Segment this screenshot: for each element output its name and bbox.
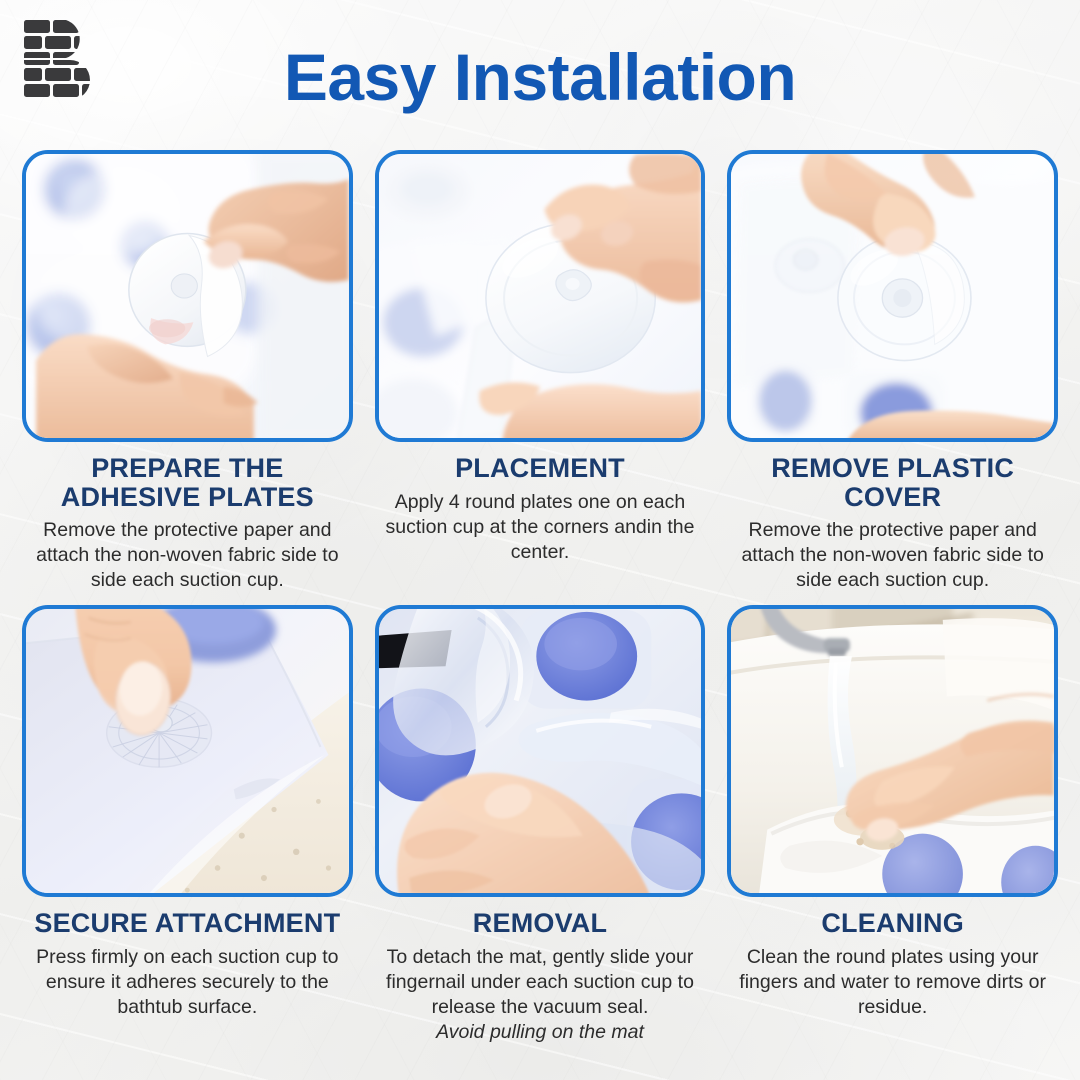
step-body-text: To detach the mat, gently slide your fin…: [386, 946, 694, 1018]
image-remove-plastic-cover-icon: [731, 154, 1054, 438]
step-photo-prepare-the-adhesive-plates: [22, 150, 353, 442]
step-body: Press firmly on each suction cup to ensu…: [22, 945, 353, 1020]
steps-grid: PREPARE THE ADHESIVE PLATES Remove the p…: [0, 150, 1080, 1045]
step-body-note: Avoid pulling on the mat: [381, 1020, 700, 1045]
step-body-text: Clean the round plates using your finger…: [739, 946, 1046, 1018]
step-body-text: Remove the protective paper and attach t…: [741, 519, 1043, 591]
step-card-remove-plastic-cover: REMOVE PLASTIC COVER Remove the protecti…: [727, 150, 1058, 593]
step-title: SECURE ATTACHMENT: [34, 909, 340, 938]
step-title: REMOVAL: [473, 909, 607, 938]
step-title: REMOVE PLASTIC COVER: [727, 454, 1058, 511]
step-photo-removal: [375, 605, 706, 897]
step-card-prepare-the-adhesive-plates: PREPARE THE ADHESIVE PLATES Remove the p…: [22, 150, 353, 593]
image-press-suction-cup-icon: [26, 609, 349, 893]
step-body: To detach the mat, gently slide your fin…: [375, 945, 706, 1045]
step-photo-remove-plastic-cover: [727, 150, 1058, 442]
step-title: CLEANING: [821, 909, 964, 938]
image-place-plate-on-suction-cup-icon: [379, 154, 702, 438]
image-peel-adhesive-paper-icon: [26, 154, 349, 438]
step-photo-placement: [375, 150, 706, 442]
step-body-text: Remove the protective paper and attach t…: [36, 519, 338, 591]
step-card-secure-attachment: SECURE ATTACHMENT Press firmly on each s…: [22, 605, 353, 1044]
step-card-placement: PLACEMENT Apply 4 round plates one on ea…: [375, 150, 706, 593]
step-title: PLACEMENT: [455, 454, 625, 483]
step-body-text: Press firmly on each suction cup to ensu…: [36, 946, 338, 1018]
infographic-page: Easy Installation: [0, 0, 1080, 1080]
page-title: Easy Installation: [0, 44, 1080, 110]
image-rinse-mat-under-faucet-icon: [731, 609, 1054, 893]
step-photo-secure-attachment: [22, 605, 353, 897]
step-photo-cleaning: [727, 605, 1058, 897]
step-card-removal: REMOVAL To detach the mat, gently slide …: [375, 605, 706, 1044]
step-card-cleaning: CLEANING Clean the round plates using yo…: [727, 605, 1058, 1044]
step-title: PREPARE THE ADHESIVE PLATES: [22, 454, 353, 511]
step-body: Remove the protective paper and attach t…: [727, 518, 1058, 593]
step-body: Remove the protective paper and attach t…: [22, 518, 353, 593]
step-body: Apply 4 round plates one on each suction…: [375, 490, 706, 565]
image-peel-mat-removal-icon: [379, 609, 702, 893]
step-body-text: Apply 4 round plates one on each suction…: [386, 491, 695, 563]
header: Easy Installation: [0, 0, 1080, 150]
step-body: Clean the round plates using your finger…: [727, 945, 1058, 1020]
